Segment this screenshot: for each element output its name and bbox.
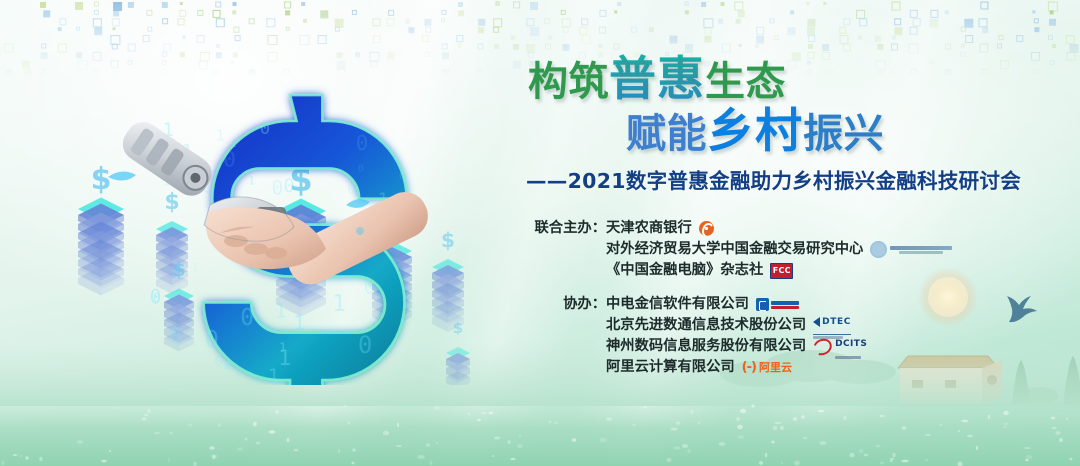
main-title: 构筑普惠生态 赋能乡村振兴	[520, 40, 1065, 160]
title-word-xiangcun: 乡村	[707, 104, 803, 159]
uibe-china-finance-research-center-logo	[870, 241, 952, 258]
svg-text:$: $	[453, 319, 463, 337]
svg-text:0: 0	[260, 119, 270, 139]
cosponsor-name: 阿里云计算有限公司	[606, 357, 735, 378]
cosponsor-item: 北京先进数通信息技术股份公司 DTEC	[606, 315, 1065, 336]
organizer-item: 《中国金融电脑》杂志社 FCC	[606, 260, 1065, 281]
coin-stack: $	[78, 162, 124, 296]
svg-text:0: 0	[358, 164, 364, 175]
svg-text:$: $	[441, 228, 455, 252]
organizer-name: 对外经济贸易大学中国金融交易研究中心	[606, 239, 863, 260]
svg-text:0: 0	[272, 176, 284, 199]
aliyun-logo-text: 阿里云	[759, 357, 792, 378]
organizer-item: 天津农商银行	[606, 218, 1065, 239]
svg-text:1: 1	[275, 299, 287, 322]
event-subtitle: ——2021数字普惠金融助力乡村振兴金融科技研讨会	[526, 164, 1065, 194]
tianjin-rural-commercial-bank-logo	[699, 221, 714, 236]
title-line-2: 赋能乡村振兴	[626, 92, 884, 161]
aliyun-logo: (-) 阿里云	[742, 357, 792, 378]
aliyun-bracket-mark: (-)	[742, 357, 756, 378]
svg-text:0: 0	[169, 323, 181, 347]
svg-text:0: 0	[214, 354, 222, 370]
fcc-magazine-logo: FCC	[770, 263, 793, 279]
grass-field	[0, 396, 1080, 466]
dtec-logo-text: DTEC	[822, 312, 851, 333]
svg-text:1: 1	[332, 291, 346, 317]
cetc-cienetech-logo	[756, 298, 799, 311]
organizer-item: 对外经济贸易大学中国金融交易研究中心	[606, 239, 1065, 260]
organizers-label: 联合主办：	[532, 218, 606, 239]
cosponsor-item: 阿里云计算有限公司 (-) 阿里云	[606, 357, 1065, 378]
organizer-name: 《中国金融电脑》杂志社	[606, 260, 763, 281]
coin-stack: $	[432, 228, 464, 332]
svg-text:1: 1	[215, 126, 224, 144]
svg-text:$: $	[91, 162, 112, 197]
cosponsor-name: 北京先进数通信息技术股份公司	[606, 315, 806, 336]
dollar-handshake-illustration: $$$$$$$ 10111000001100110001011100101010…	[60, 55, 500, 385]
svg-text:$: $	[164, 190, 179, 215]
cosponsor-name: 神州数码信息服务股份有限公司	[606, 336, 806, 357]
organizer-section: 联合主办： 天津农商银行 对外经济贸易大学中国金融交易研究中心	[532, 218, 1065, 378]
svg-text:1: 1	[293, 311, 305, 334]
dtec-logo: DTEC	[813, 312, 851, 340]
organizer-name: 天津农商银行	[606, 218, 692, 239]
title-word-zhenxing: 振兴	[803, 111, 884, 157]
cosponsors-label: 协办：	[532, 294, 606, 315]
event-banner: $$$$$$$ 10111000001100110001011100101010…	[0, 0, 1080, 466]
svg-text:1: 1	[192, 261, 199, 274]
title-word-gouzhu: 构筑	[528, 59, 609, 105]
svg-text:0: 0	[153, 291, 161, 306]
banner-text-block: 构筑普惠生态 赋能乡村振兴 ——2021数字普惠金融助力乡村振兴金融科技研讨会 …	[520, 40, 1065, 378]
svg-text:1: 1	[248, 174, 255, 188]
organizers-group: 联合主办： 天津农商银行 对外经济贸易大学中国金融交易研究中心	[532, 218, 1065, 281]
svg-text:0: 0	[284, 176, 295, 197]
title-word-funeng: 赋能	[626, 111, 707, 157]
svg-text:0: 0	[356, 131, 368, 155]
cosponsor-name: 中电金信软件有限公司	[606, 294, 749, 315]
cosponsor-item: 神州数码信息服务股份有限公司 DCITS	[606, 336, 1065, 357]
svg-text:0: 0	[347, 182, 355, 197]
fcc-logo-text: FCC	[773, 260, 791, 281]
svg-text:1: 1	[278, 346, 291, 371]
svg-text:$: $	[172, 259, 185, 281]
svg-text:0: 0	[358, 331, 372, 359]
cosponsors-group: 协办： 中电金信软件有限公司 北京先进数通信息技术股份公司	[532, 294, 1065, 378]
